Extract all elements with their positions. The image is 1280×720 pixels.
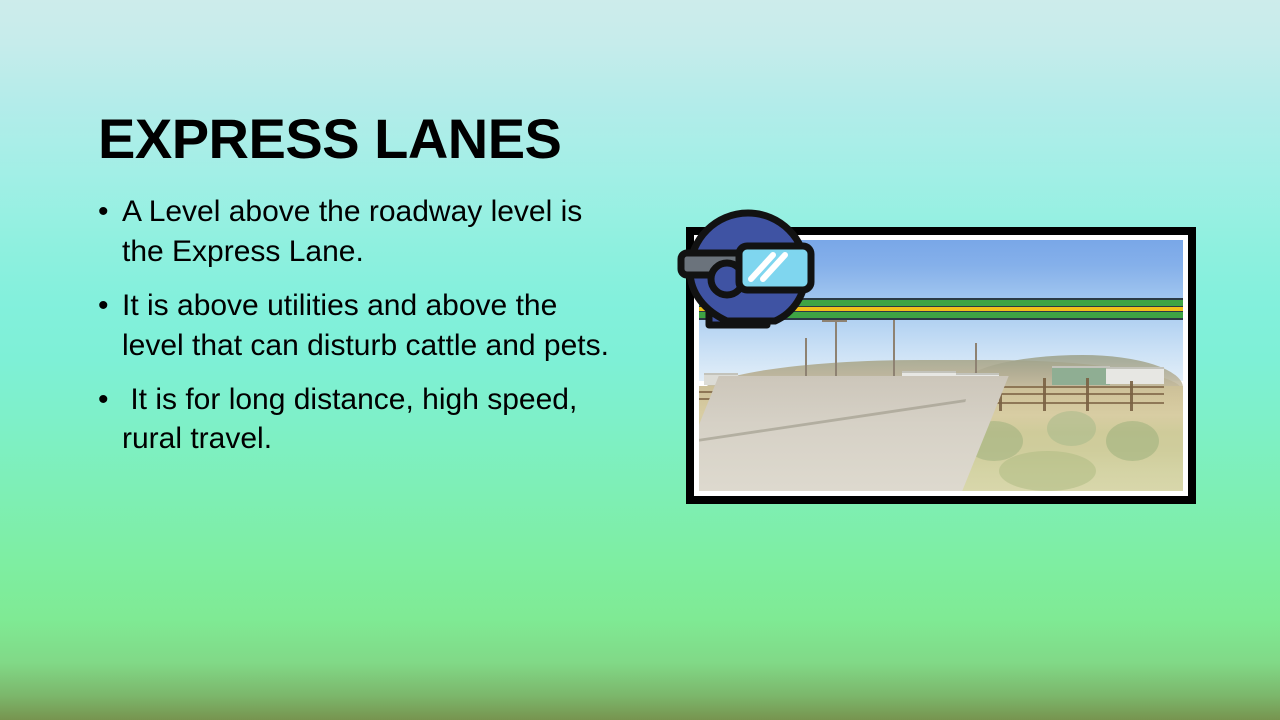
roadside-photo bbox=[699, 240, 1183, 491]
fence-post bbox=[1086, 378, 1089, 411]
bullet-marker-icon: • bbox=[98, 286, 109, 326]
outbuilding bbox=[1052, 366, 1110, 386]
bullet-marker-icon: • bbox=[98, 380, 109, 420]
list-item: • A Level above the roadway level is the… bbox=[92, 192, 622, 272]
sagebrush bbox=[1047, 411, 1095, 446]
express-lane-stripes bbox=[699, 298, 1183, 320]
picture-frame bbox=[686, 227, 1196, 504]
picture-matte bbox=[694, 235, 1188, 496]
outbuilding bbox=[1106, 367, 1164, 384]
utility-pole bbox=[893, 313, 895, 381]
list-item: • It is for long distance, high speed, r… bbox=[92, 380, 622, 460]
grass-patch bbox=[999, 451, 1096, 491]
sagebrush bbox=[1106, 421, 1159, 461]
pole-crossarm bbox=[822, 320, 846, 322]
list-item-text: It is for long distance, high speed, rur… bbox=[122, 380, 622, 460]
page-title: EXPRESS LANES bbox=[98, 110, 798, 169]
fence-post bbox=[1130, 381, 1133, 411]
bullet-marker-icon: • bbox=[98, 192, 109, 232]
utility-pole bbox=[835, 318, 837, 383]
slide-canvas: EXPRESS LANES • A Level above the roadwa… bbox=[0, 0, 1280, 720]
list-item: • It is above utilities and above the le… bbox=[92, 286, 622, 366]
bullet-list: • A Level above the roadway level is the… bbox=[92, 192, 622, 473]
fence-post bbox=[1043, 378, 1046, 411]
list-item-text: It is above utilities and above the leve… bbox=[122, 286, 622, 366]
stripe-outline bbox=[699, 318, 1183, 320]
list-item-text: A Level above the roadway level is the E… bbox=[122, 192, 622, 272]
